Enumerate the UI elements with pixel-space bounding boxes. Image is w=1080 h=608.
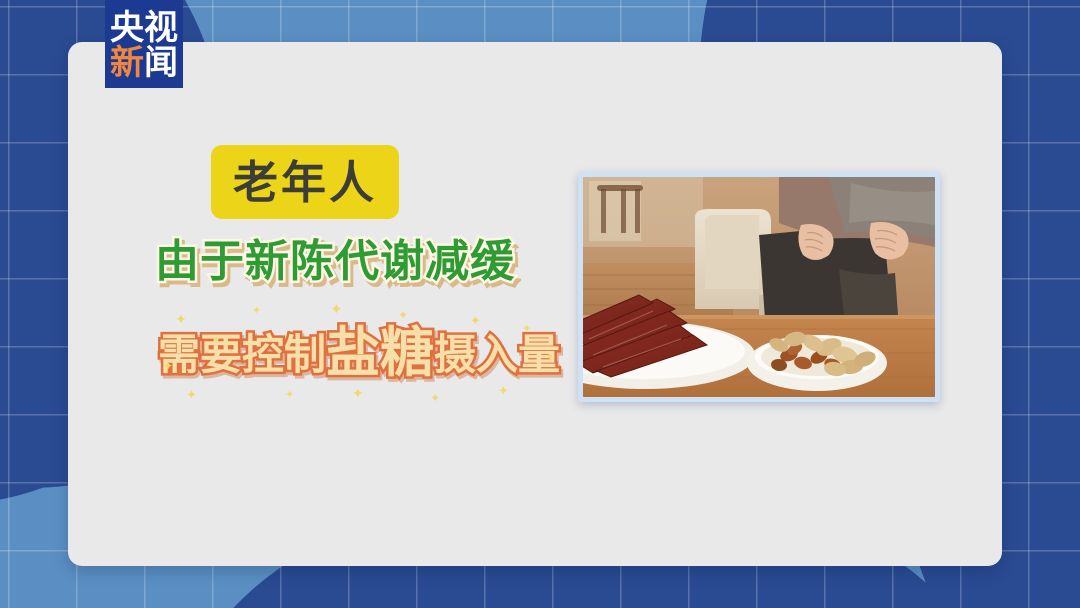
category-badge: 老年人 (211, 145, 399, 219)
logo-text-wen: 闻 (144, 46, 178, 80)
headline-line-two: 需要控制 盐糖 摄入量 (158, 324, 560, 378)
logo-line-one: 央视 (110, 11, 178, 45)
illustration-image (583, 177, 935, 397)
cctv-news-logo: 央视 新 闻 (105, 0, 183, 88)
illustration-svg (583, 177, 935, 397)
slide-canvas: 央视 新 闻 老年人 由于新陈代谢减缓 需要控制 盐糖 摄入量 ✦✦✦✦✦✦✦✦… (0, 0, 1080, 608)
category-badge-label: 老年人 (233, 160, 377, 205)
headline-line-two-suffix: 摄入量 (434, 334, 560, 376)
headline-line-two-emphasis: 盐糖 (326, 326, 434, 380)
headline-line-one: 由于新陈代谢减缓 (155, 240, 515, 284)
illustration-frame (578, 172, 940, 402)
logo-line-two: 新 闻 (110, 46, 178, 80)
logo-text-yangshi: 央视 (110, 11, 178, 45)
logo-text-xin: 新 (110, 46, 144, 80)
headline-line-two-prefix: 需要控制 (158, 334, 326, 376)
